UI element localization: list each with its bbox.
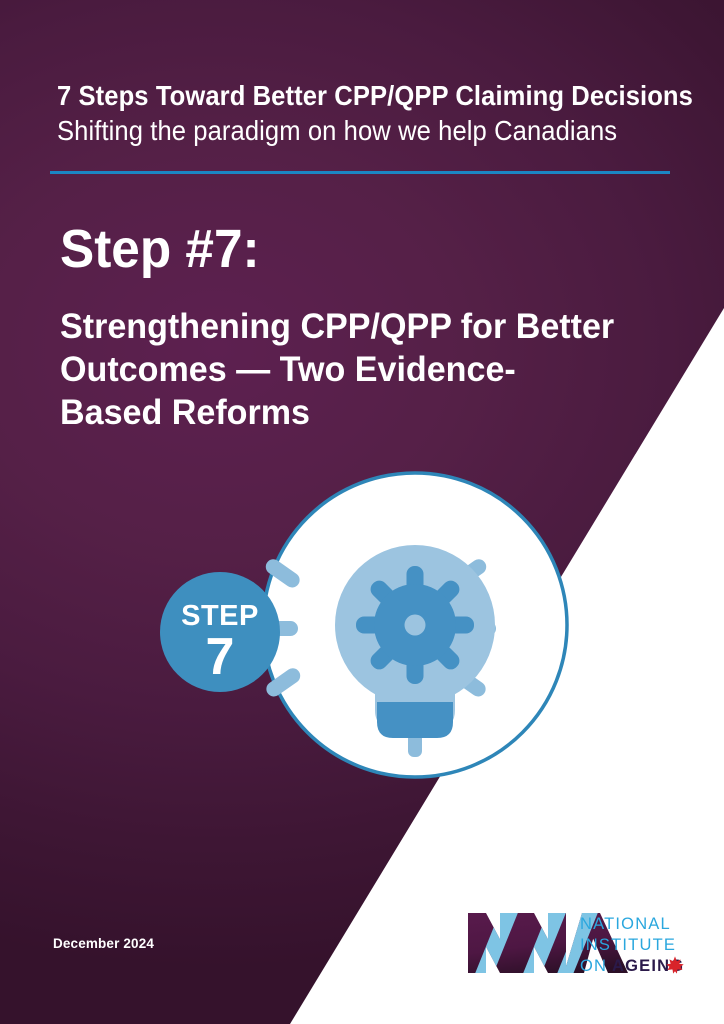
header-divider-rule [50,171,670,174]
step-badge-number: 7 [206,628,235,686]
publication-date: December 2024 [53,936,154,951]
cover-illustration: STEP 7 [160,470,590,800]
gear-icon [356,566,474,684]
lightbulb-base [377,702,453,738]
series-subtitle: Shifting the paradigm on how we help Can… [57,114,652,147]
page-title: Strengthening CPP/QPP for Better Outcome… [60,305,617,434]
cover-header: 7 Steps Toward Better CPP/QPP Claiming D… [57,80,697,147]
document-cover: 7 Steps Toward Better CPP/QPP Claiming D… [0,0,724,1024]
step-number-label: Step #7: [60,219,260,279]
logo-line-on: ON [580,957,607,975]
step-badge: STEP 7 [160,572,280,692]
logo-line-national: NATIONAL [580,915,671,933]
nia-logo: NATIONAL INSTITUTE ON AGEING [460,905,686,981]
logo-line-institute: INSTITUTE [580,936,676,954]
series-title: 7 Steps Toward Better CPP/QPP Claiming D… [57,80,652,112]
